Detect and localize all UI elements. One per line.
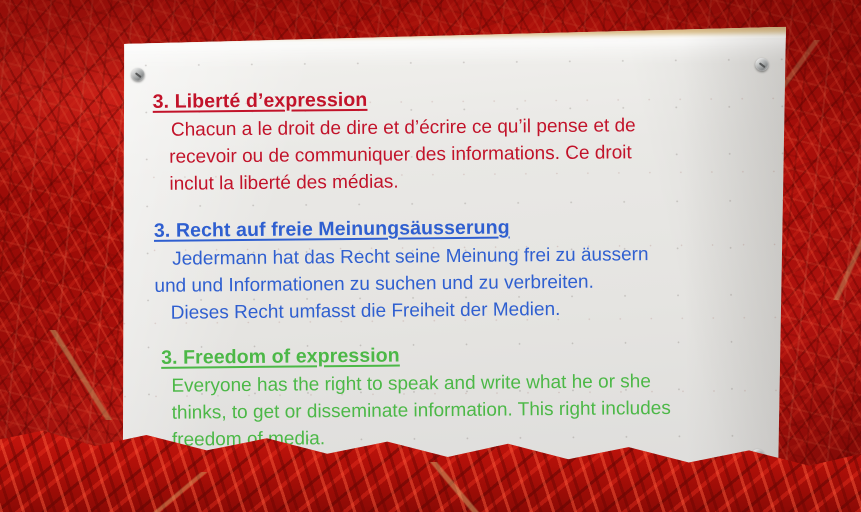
body-line-english-3: freedom of media.	[142, 421, 766, 454]
body-line-german-3: Dieses Recht umfasst die Freiheit der Me…	[141, 294, 765, 327]
text-block-english: 3. Freedom of expression Everyone has th…	[141, 341, 766, 454]
heading-french: 3. Liberté d’expression	[139, 85, 763, 114]
screw-top-left-icon	[131, 68, 144, 81]
screw-top-right-icon	[755, 58, 768, 71]
photo-scene: 3. Liberté d’expression Chacun a le droi…	[0, 0, 861, 512]
heading-english: 3. Freedom of expression	[147, 341, 765, 370]
text-block-german: 3. Recht auf freie Meinungsäusserung Jed…	[140, 214, 765, 327]
body-line-french-3: inclut la liberté des médias.	[139, 165, 763, 198]
sign-text-area: 3. Liberté d’expression Chacun a le droi…	[139, 85, 767, 473]
information-sign-panel: 3. Liberté d’expression Chacun a le droi…	[116, 27, 794, 483]
text-block-french: 3. Liberté d’expression Chacun a le droi…	[139, 85, 764, 198]
heading-german: 3. Recht auf freie Meinungsäusserung	[140, 214, 764, 243]
